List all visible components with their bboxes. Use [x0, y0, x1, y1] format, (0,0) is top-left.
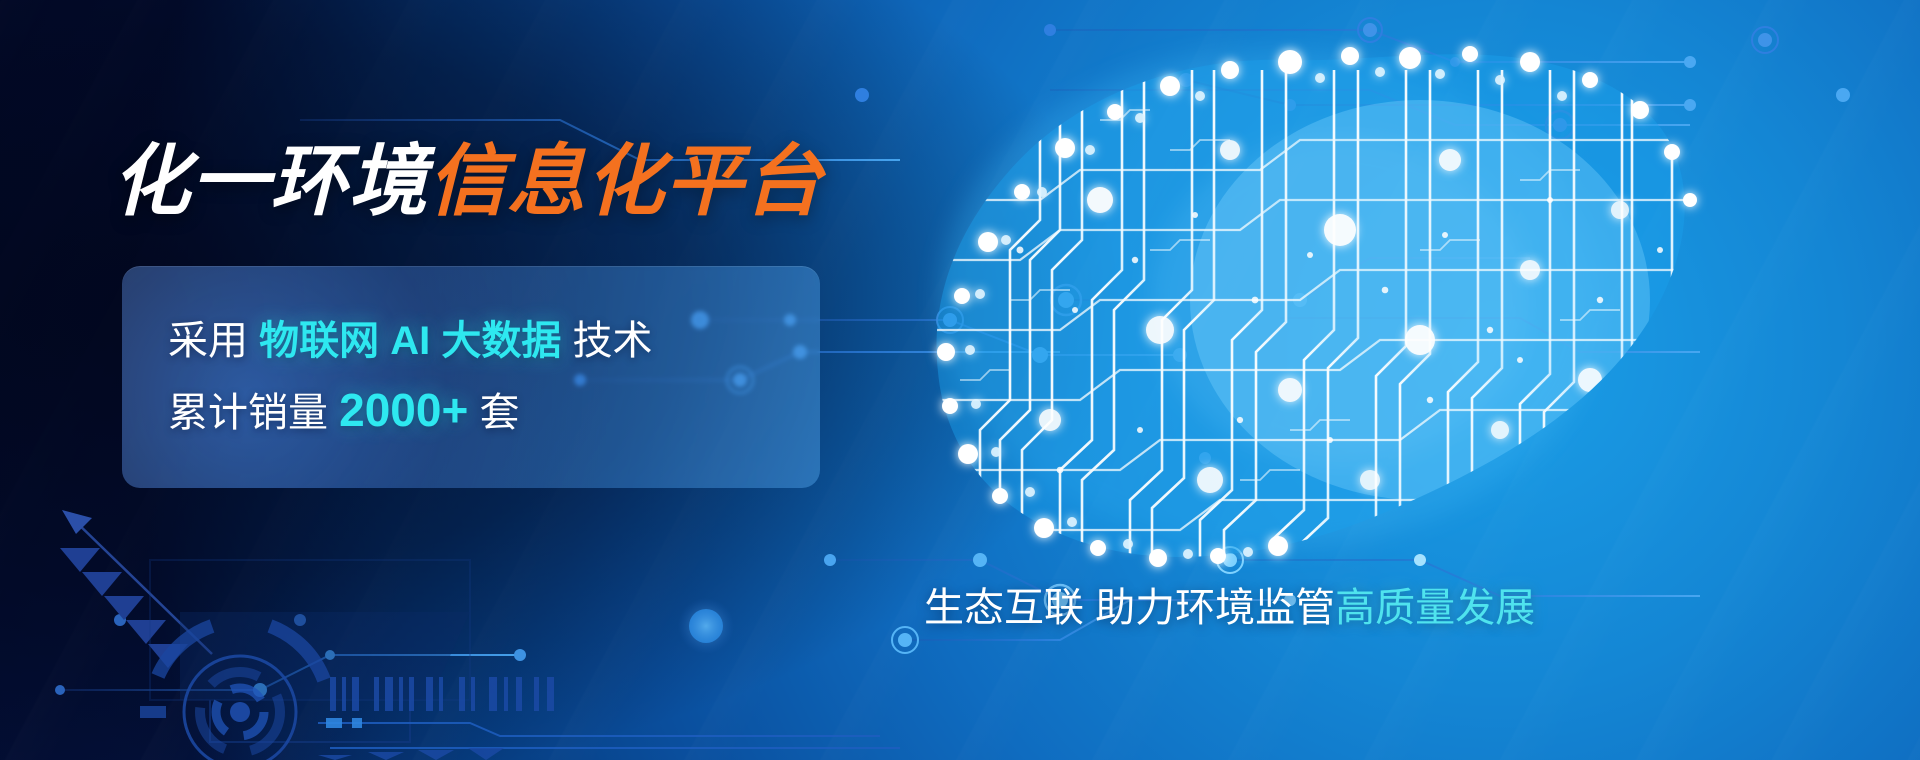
tagline-white-part: 生态互联 助力环境监管: [924, 586, 1335, 630]
feature-panel: 采用 物联网 AI 大数据 技术 累计销量 2000+ 套: [122, 266, 820, 488]
banner-root: 化一环境信息化平台 采用 物联网 AI 大数据 技术 累计销量 2000+ 套 …: [0, 0, 1920, 760]
page-title: 化一环境信息化平台: [112, 142, 823, 220]
arrow-trail-decoration: [60, 510, 212, 668]
panel-line1-suffix: 技术: [572, 319, 652, 363]
tagline: 生态互联 助力环境监管高质量发展: [924, 586, 1535, 630]
hud-ring-decoration: [140, 626, 324, 760]
headline-white-segment: 化一环境: [112, 137, 428, 225]
panel-line1-highlight: 物联网 AI 大数据: [259, 319, 561, 363]
panel-line2-prefix: 累计销量: [168, 391, 328, 435]
panel-line2-number: 2000+: [339, 384, 468, 436]
barcode-ticks-decoration: [330, 677, 554, 711]
panel-line-2: 累计销量 2000+ 套: [168, 386, 774, 434]
panel-line2-suffix: 套: [479, 391, 519, 435]
panel-line-1: 采用 物联网 AI 大数据 技术: [168, 320, 774, 362]
panel-line1-prefix: 采用: [168, 319, 248, 363]
headline-orange-segment: 信息化平台: [428, 137, 823, 225]
tagline-cyan-part: 高质量发展: [1335, 586, 1535, 630]
